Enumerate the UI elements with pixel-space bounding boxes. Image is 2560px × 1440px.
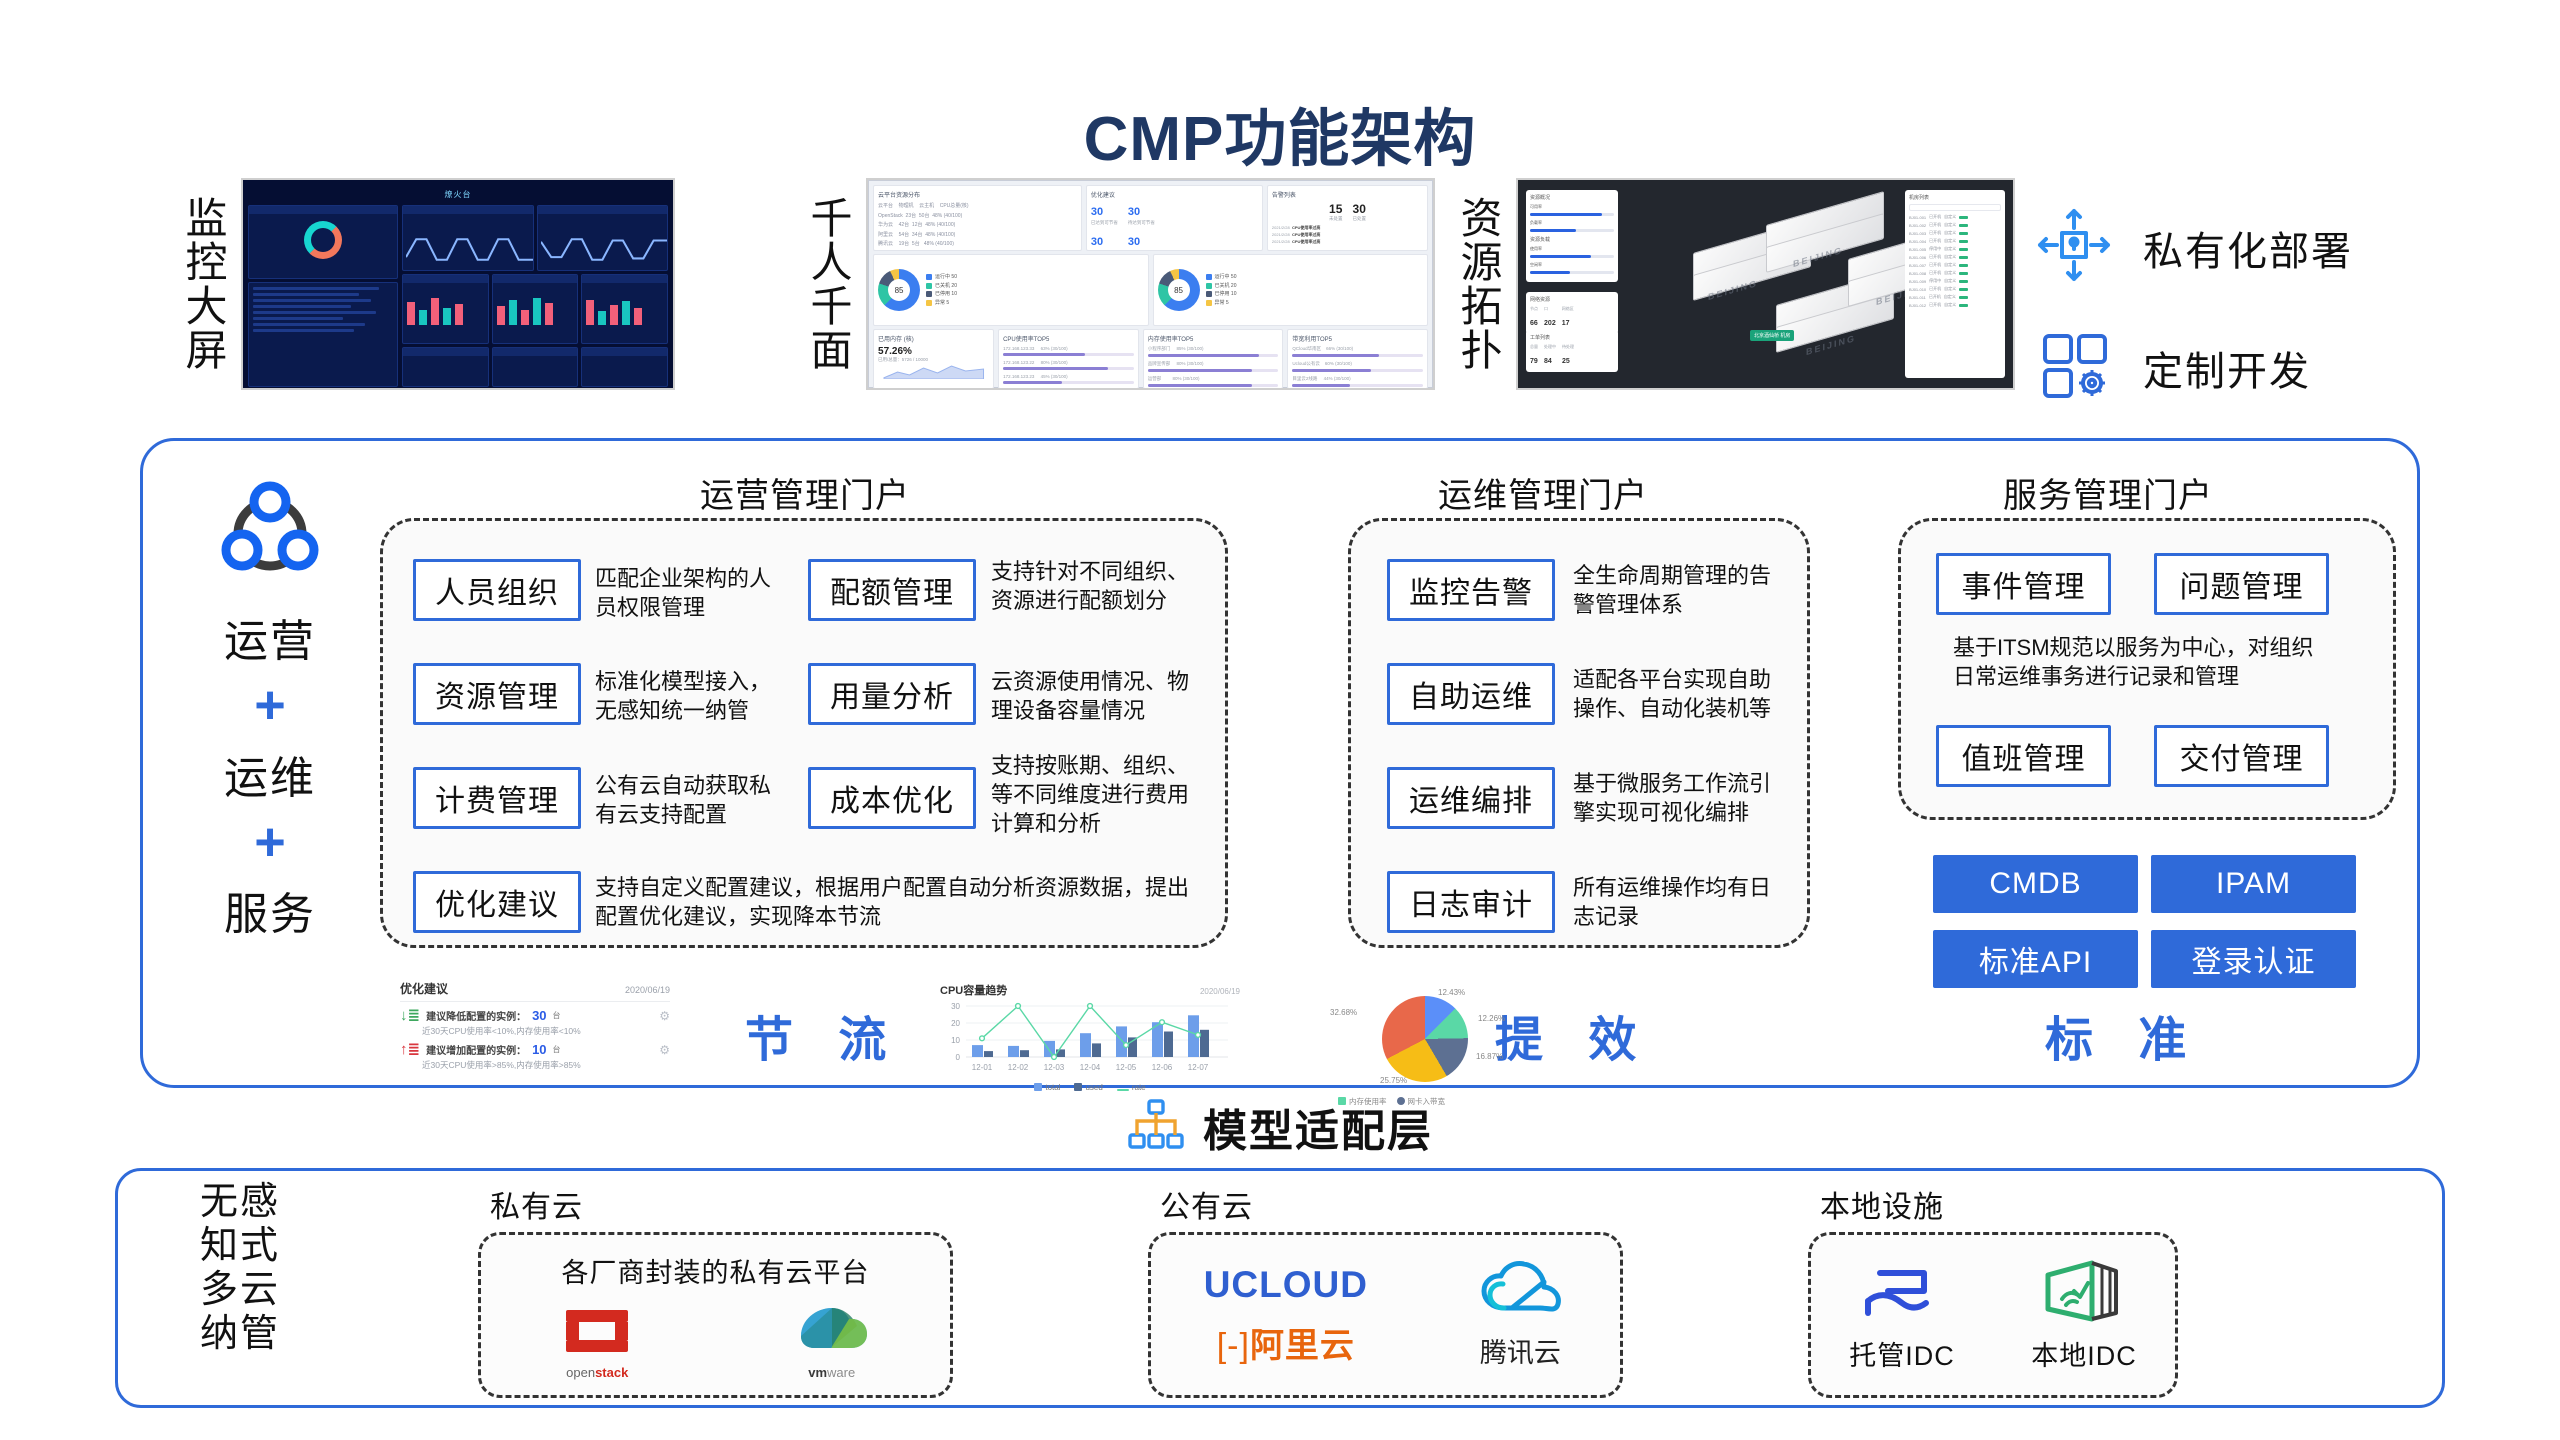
dark-dash-title: 燎火台 bbox=[445, 189, 472, 200]
sort-up-icon: ↑≣ bbox=[400, 1042, 420, 1057]
cmp-architecture-page: CMP功能架构 监控大屏 燎火台 bbox=[0, 0, 2560, 1440]
maintenance-portal-box: 监控告警 全生命周期管理的告警管理体系 自助运维 适配各平台实现自助操作、自动化… bbox=[1348, 518, 1810, 948]
svg-text:20: 20 bbox=[951, 1019, 960, 1028]
showcase-item-topology: 资源拓扑 BEIJING BEIJING BEIJING BEIJING bbox=[1455, 178, 2015, 390]
cell-button-usage-analysis[interactable]: 用量分析 bbox=[808, 663, 976, 725]
portal-title-operations: 运营管理门户 bbox=[700, 468, 910, 517]
group-title-public-cloud: 公有云 bbox=[1160, 1182, 1253, 1226]
resource-topology-screenshot: BEIJING BEIJING BEIJING BEIJING 北京酒仙桥 机房… bbox=[1516, 178, 2015, 390]
left-label-line: 多云 bbox=[175, 1268, 305, 1312]
ucloud-logo: UCLOUD bbox=[1151, 1264, 1421, 1306]
row-label: 建议降低配置的实例： bbox=[426, 1008, 526, 1023]
metric-value: 30 bbox=[1091, 206, 1103, 218]
group-title-private-cloud: 私有云 bbox=[490, 1182, 583, 1226]
row-unit: 台 bbox=[553, 1010, 561, 1021]
pie-label: 16.87% bbox=[1476, 1052, 1503, 1061]
metric-value: 30 bbox=[1128, 236, 1140, 248]
cpu-capacity-trend-chart: CPU容量趋势 2020/06/19 30 20 10 0 bbox=[940, 982, 1240, 1092]
four-squares-gear-icon bbox=[2035, 326, 2113, 409]
row-unit: 台 bbox=[553, 1044, 561, 1055]
cell-button-ops-orchestration[interactable]: 运维编排 bbox=[1387, 767, 1555, 829]
pie-label: 12.43% bbox=[1438, 988, 1465, 997]
usage-percent: 57.26% bbox=[878, 346, 989, 357]
cell-desc: 适配各平台实现自助操作、自动化装机等 bbox=[1573, 665, 1787, 723]
cell-button-monitor-alert[interactable]: 监控告警 bbox=[1387, 559, 1555, 621]
portal-title-service: 服务管理门户 bbox=[2003, 468, 2213, 517]
group-title-local-facility: 本地设施 bbox=[1820, 1182, 1944, 1226]
gear-icon[interactable]: ⚙ bbox=[659, 1043, 670, 1057]
stat-unhandled: 15 bbox=[1329, 202, 1343, 216]
topo-stat: 84 bbox=[1544, 358, 1552, 365]
cell-desc: 所有运维操作均有日志记录 bbox=[1573, 873, 1785, 931]
public-cloud-box: UCLOUD [-]阿里云 腾讯云 bbox=[1148, 1232, 1623, 1398]
cell-button-duty-mgmt[interactable]: 值班管理 bbox=[1936, 725, 2111, 787]
metric-value: 30 bbox=[1128, 206, 1140, 218]
pillar-word-operations: 运营 bbox=[195, 605, 345, 669]
left-label-line: 无感 bbox=[175, 1180, 305, 1224]
row-sub: 近30天CPU使用率<10%,内存使用率<10% bbox=[422, 1025, 670, 1037]
metric-value: 30 bbox=[1091, 236, 1103, 248]
showcase-label: 千人千面 bbox=[805, 196, 852, 372]
private-cloud-box: 各厂商封装的私有云平台 openstack bbox=[478, 1232, 953, 1398]
alert-list-card: 告警列表 15未处置 30已处置 2021/2/28 CPU使用率过高 2021… bbox=[1267, 185, 1428, 251]
pie-graphic bbox=[1382, 996, 1468, 1082]
svg-text:10: 10 bbox=[951, 1036, 960, 1045]
svg-text:12-05: 12-05 bbox=[1116, 1063, 1137, 1072]
stat-handled: 30 bbox=[1352, 202, 1366, 216]
sort-down-icon: ↓≣ bbox=[400, 1008, 420, 1023]
chart-title: CPU容量趋势 bbox=[940, 982, 1007, 998]
three-node-network-icon bbox=[215, 571, 325, 588]
cell-button-resource-mgmt[interactable]: 资源管理 bbox=[413, 663, 581, 725]
cell-button-problem-mgmt[interactable]: 问题管理 bbox=[2154, 553, 2329, 615]
pillar-word-maintenance: 运维 bbox=[195, 742, 345, 806]
vmware-label: vmware bbox=[791, 1365, 873, 1380]
pillars-column: 运营 + 运维 + 服务 bbox=[195, 478, 345, 958]
tencentcloud-label: 腾讯云 bbox=[1421, 1331, 1620, 1370]
local-facility-box: 托管IDC 本地IDC bbox=[1808, 1232, 2178, 1398]
cell-desc: 支持按账期、组织、等不同维度进行费用计算和分析 bbox=[991, 751, 1209, 838]
cell-desc: 标准化模型接入，无感知统一纳管 bbox=[595, 667, 785, 725]
openstack-logo: openstack bbox=[558, 1302, 636, 1380]
local-idc-label: 本地IDC bbox=[2031, 1334, 2137, 1373]
pillar-word-service: 服务 bbox=[195, 878, 345, 942]
pie-label: 25.75% bbox=[1380, 1076, 1407, 1085]
cell-desc: 基于微服务工作流引擎实现可视化编排 bbox=[1573, 769, 1787, 827]
donut-center-value: 85 bbox=[878, 267, 920, 313]
vmware-logo: vmware bbox=[791, 1302, 873, 1380]
svg-text:12-02: 12-02 bbox=[1008, 1063, 1029, 1072]
widget-date: 2020/06/19 bbox=[625, 985, 670, 995]
local-idc-icon bbox=[2040, 1316, 2128, 1333]
cell-button-quota-mgmt[interactable]: 配额管理 bbox=[808, 559, 976, 621]
solid-button-standard-api[interactable]: 标准API bbox=[1933, 930, 2138, 988]
solid-button-login-auth[interactable]: 登录认证 bbox=[2151, 930, 2356, 988]
showcase-label: 资源拓扑 bbox=[1455, 196, 1502, 372]
cell-desc: 全生命周期管理的告警管理体系 bbox=[1573, 561, 1783, 619]
svg-text:12-03: 12-03 bbox=[1044, 1063, 1065, 1072]
memory-usage-pie-chart: 12.43% 12.26% 16.87% 25.75% 32.68% 内存使用率… bbox=[1330, 988, 1550, 1088]
monitoring-bigscreen-screenshot: 燎火台 bbox=[241, 178, 675, 390]
private-cloud-note: 各厂商封装的私有云平台 bbox=[481, 1251, 950, 1290]
topo-stat: 66 bbox=[1530, 320, 1538, 327]
topo-stat: 79 bbox=[1530, 358, 1538, 365]
left-label-line: 纳管 bbox=[175, 1312, 305, 1356]
chart-legend: total used rate bbox=[940, 1083, 1240, 1092]
cell-button-cost-optimization[interactable]: 成本优化 bbox=[808, 767, 976, 829]
cell-button-incident-mgmt[interactable]: 事件管理 bbox=[1936, 553, 2111, 615]
cell-desc: 云资源使用情况、物理设备容量情况 bbox=[991, 667, 1209, 725]
svg-text:12-07: 12-07 bbox=[1188, 1063, 1209, 1072]
page-title: CMP功能架构 bbox=[0, 88, 2560, 178]
gear-icon[interactable]: ⚙ bbox=[659, 1009, 670, 1023]
showcase-item-personalized: 千人千面 云平台资源分布 云平台 物理机 云主机 CPU总量(核) OpenSt… bbox=[805, 178, 1435, 390]
aliyun-logo: [-]阿里云 bbox=[1151, 1318, 1421, 1367]
stat-unhandled-label: 未处置 bbox=[1329, 216, 1343, 222]
service-portal-note: 基于ITSM规范以服务为中心，对组织日常运维事务进行记录和管理 bbox=[1953, 633, 2331, 691]
left-label-line: 知式 bbox=[175, 1224, 305, 1268]
donut-center-value: 85 bbox=[1158, 267, 1200, 313]
bigword-cost-saving: 节 流 bbox=[745, 1000, 902, 1070]
model-adapter-layer: 模型适配层 bbox=[0, 1095, 2560, 1159]
cell-button-optimization-advice[interactable]: 优化建议 bbox=[413, 871, 581, 933]
svg-text:12-01: 12-01 bbox=[972, 1063, 993, 1072]
cell-button-billing-mgmt[interactable]: 计费管理 bbox=[413, 767, 581, 829]
hosted-idc-label: 托管IDC bbox=[1849, 1334, 1955, 1373]
openstack-label: openstack bbox=[558, 1365, 636, 1380]
feature-label: 定制开发 bbox=[2143, 339, 2311, 397]
svg-text:30: 30 bbox=[951, 1002, 960, 1011]
solid-button-ipam[interactable]: IPAM bbox=[2151, 855, 2356, 913]
cell-desc: 匹配企业架构的人员权限管理 bbox=[595, 564, 775, 622]
svg-text:12-06: 12-06 bbox=[1152, 1063, 1173, 1072]
bigword-standard: 标 准 bbox=[2045, 1000, 2202, 1070]
operations-portal-box: 人员组织 匹配企业架构的人员权限管理 配额管理 支持针对不同组织、资源进行配额划… bbox=[380, 518, 1228, 948]
topology-tag: 北京酒仙桥 机房 bbox=[1750, 330, 1794, 341]
cell-desc: 支持自定义配置建议，根据用户配置自动分析资源数据，提出配置优化建议，实现降本节流 bbox=[595, 873, 1209, 931]
cell-button-self-service-ops[interactable]: 自助运维 bbox=[1387, 663, 1555, 725]
move-arrows-icon bbox=[2035, 206, 2113, 289]
cell-desc: 支持针对不同组织、资源进行配额划分 bbox=[991, 557, 1209, 615]
solid-button-cmdb[interactable]: CMDB bbox=[1933, 855, 2138, 913]
widget-title: 优化建议 bbox=[400, 980, 448, 997]
pie-label: 12.26% bbox=[1478, 1014, 1505, 1023]
legend-item-rate: rate bbox=[1117, 1083, 1146, 1092]
pie-label: 32.68% bbox=[1330, 1008, 1357, 1017]
hosted-idc-icon bbox=[1858, 1316, 1946, 1333]
personalized-dashboard-screenshot: 云平台资源分布 云平台 物理机 云主机 CPU总量(核) OpenStack 2… bbox=[866, 178, 1435, 390]
hierarchy-tree-icon bbox=[1127, 1099, 1185, 1156]
stat-handled-label: 已处置 bbox=[1352, 216, 1366, 222]
tencentcloud-logo: 腾讯云 bbox=[1421, 1260, 1620, 1370]
plus-sign: + bbox=[195, 685, 345, 726]
topo-stat: 25 bbox=[1562, 358, 1570, 365]
adapter-label: 模型适配层 bbox=[1203, 1095, 1433, 1159]
feature-label: 私有化部署 bbox=[2143, 219, 2353, 277]
row-sub: 近30天CPU使用率>85%,内存使用率>85% bbox=[422, 1059, 670, 1071]
cell-button-log-audit[interactable]: 日志审计 bbox=[1387, 871, 1555, 933]
feature-custom-development: 定制开发 bbox=[2035, 326, 2311, 409]
cell-desc: 公有云自动获取私有云支持配置 bbox=[595, 771, 785, 829]
row-value: 10 bbox=[532, 1042, 546, 1057]
row-label: 建议增加配置的实例： bbox=[426, 1042, 526, 1057]
legend-item-used: used bbox=[1074, 1083, 1102, 1092]
chart-date: 2020/06/19 bbox=[1200, 987, 1240, 996]
cell-button-delivery-mgmt[interactable]: 交付管理 bbox=[2154, 725, 2329, 787]
showcase-label: 监控大屏 bbox=[180, 196, 227, 372]
row-value: 30 bbox=[532, 1008, 546, 1023]
portal-title-maintenance: 运维管理门户 bbox=[1438, 468, 1648, 517]
showcase-item-monitoring: 监控大屏 燎火台 bbox=[180, 178, 675, 390]
optimization-advice-widget: 优化建议 2020/06/19 ↓≣ 建议降低配置的实例： 30 台 ⚙ 近30… bbox=[400, 980, 670, 1076]
plus-sign: + bbox=[195, 822, 345, 863]
feature-private-deployment: 私有化部署 bbox=[2035, 206, 2353, 289]
cell-button-people-org[interactable]: 人员组织 bbox=[413, 559, 581, 621]
svg-text:12-04: 12-04 bbox=[1080, 1063, 1101, 1072]
svg-text:0: 0 bbox=[956, 1053, 961, 1062]
multicloud-left-label: 无感 知式 多云 纳管 bbox=[175, 1180, 305, 1356]
topo-stat: 202 bbox=[1544, 320, 1556, 327]
service-portal-box: 事件管理 问题管理 基于ITSM规范以服务为中心，对组织日常运维事务进行记录和管… bbox=[1898, 518, 2396, 820]
topo-stat: 17 bbox=[1562, 320, 1570, 327]
chart-canvas: 30 20 10 0 12-01 12-02 bbox=[940, 998, 1230, 1076]
legend-item-total: total bbox=[1034, 1083, 1060, 1092]
